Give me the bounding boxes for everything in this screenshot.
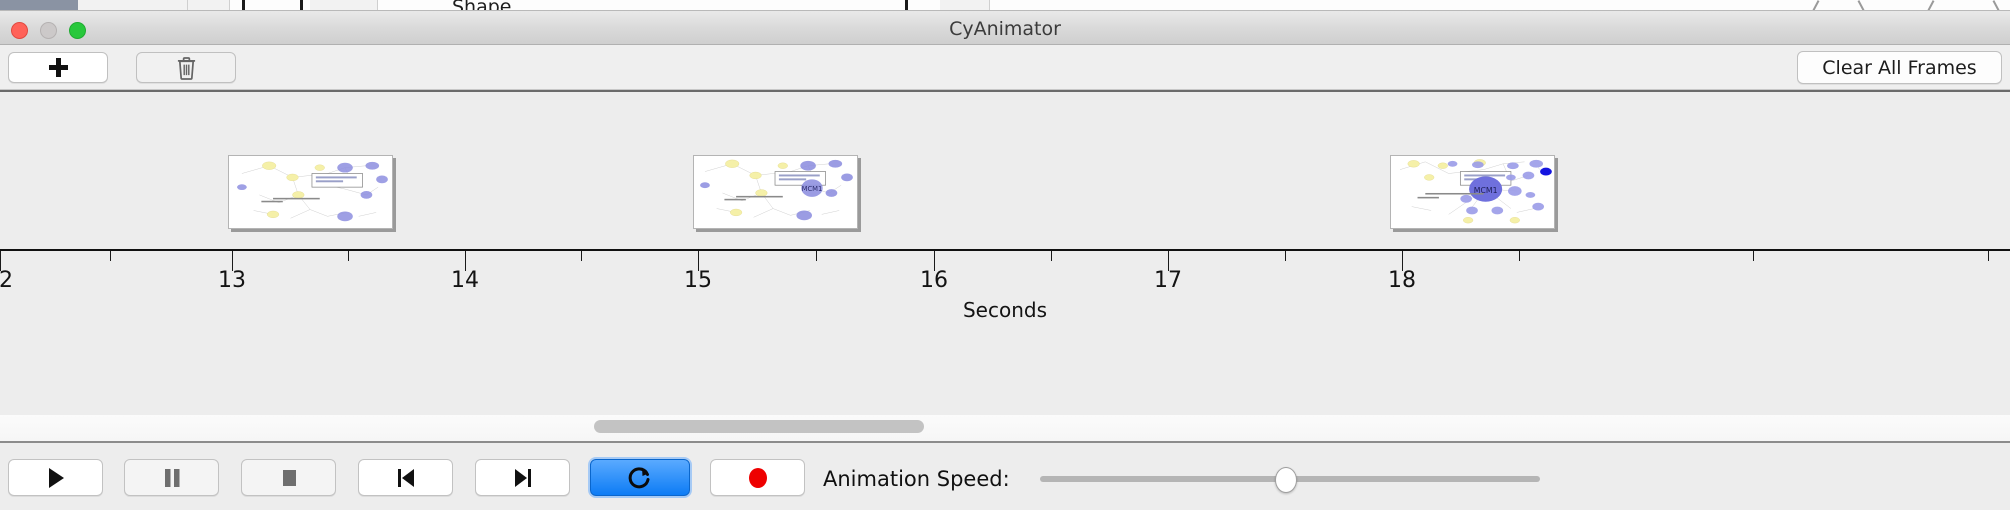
- skip-back-icon: [394, 466, 418, 490]
- bg-decoration: [1993, 0, 2000, 11]
- pause-button[interactable]: [124, 459, 219, 496]
- bg-tab: [78, 0, 188, 11]
- delete-frame-button[interactable]: [136, 52, 236, 83]
- bg-decoration: [1813, 0, 1820, 11]
- stop-button[interactable]: [241, 459, 336, 496]
- axis-tick-minor: [1753, 251, 1754, 261]
- axis-tick-minor: [110, 251, 111, 261]
- background-window-title: Shape: [452, 0, 512, 11]
- axis-tick-minor: [1988, 251, 1989, 261]
- record-button[interactable]: [710, 459, 805, 496]
- skip-back-button[interactable]: [358, 459, 453, 496]
- timeline-panel[interactable]: MCM1: [0, 90, 2010, 415]
- axis-title: Seconds: [0, 298, 2010, 322]
- axis-tick-minor: [581, 251, 582, 261]
- frames-track[interactable]: MCM1: [0, 92, 2010, 249]
- bg-decoration: [1858, 0, 1865, 11]
- timeline-scrollbar[interactable]: [0, 415, 2010, 443]
- cyanimator-window: Shape CyAnimator Clear All Fram: [0, 0, 2010, 510]
- keyframe-thumbnail[interactable]: MCM1: [1390, 155, 1555, 229]
- axis-tick-label: 14: [451, 268, 479, 293]
- loop-button[interactable]: [590, 459, 690, 496]
- animation-speed-slider[interactable]: [1040, 476, 1540, 482]
- record-icon: [746, 466, 770, 490]
- axis-tick-minor: [1519, 251, 1520, 261]
- window-title: CyAnimator: [0, 18, 2010, 40]
- network-thumbnail-graphic: MCM1: [694, 156, 857, 228]
- axis-tick-label: 13: [218, 268, 246, 293]
- toolbar: Clear All Frames: [0, 45, 2010, 90]
- bg-tab: [188, 0, 230, 11]
- trash-icon: [176, 56, 197, 80]
- bg-decoration: [1928, 0, 1935, 11]
- title-bar: CyAnimator: [0, 11, 2010, 45]
- network-node-label: MCM1: [802, 185, 823, 193]
- axis-tick-minor: [1051, 251, 1052, 261]
- clear-all-frames-button[interactable]: Clear All Frames: [1797, 51, 2002, 84]
- axis-tick-minor: [348, 251, 349, 261]
- playback-controls: Animation Speed:: [0, 443, 2010, 510]
- background-window-strip: Shape: [0, 0, 2010, 11]
- animation-speed-label: Animation Speed:: [823, 467, 1010, 491]
- axis-tick-label: 15: [684, 268, 712, 293]
- scrollbar-thumb[interactable]: [594, 420, 924, 433]
- play-button[interactable]: [8, 459, 103, 496]
- plus-icon: [48, 57, 69, 78]
- bg-tab: [310, 0, 378, 11]
- loop-icon: [627, 465, 653, 491]
- axis-tick-label: 2: [0, 268, 13, 293]
- skip-forward-button[interactable]: [475, 459, 570, 496]
- bg-tab: [940, 0, 990, 11]
- axis-tick-minor: [1285, 251, 1286, 261]
- bg-marker-tick: [905, 0, 908, 11]
- timeline-axis: [0, 249, 2010, 251]
- keyframe-thumbnail[interactable]: [228, 155, 393, 229]
- skip-forward-icon: [511, 466, 535, 490]
- stop-icon: [278, 466, 300, 490]
- bg-marker-tick: [300, 0, 303, 11]
- axis-tick-label: 16: [920, 268, 948, 293]
- animation-speed-slider-thumb[interactable]: [1275, 467, 1297, 493]
- bg-marker-tick: [242, 0, 245, 11]
- add-frame-button[interactable]: [8, 52, 108, 83]
- pause-icon: [161, 466, 183, 490]
- axis-tick-label: 18: [1388, 268, 1416, 293]
- axis-tick-label: 17: [1154, 268, 1182, 293]
- play-icon: [45, 466, 67, 490]
- network-thumbnail-graphic: [229, 156, 392, 228]
- keyframe-thumbnail[interactable]: MCM1: [693, 155, 858, 229]
- network-thumbnail-graphic: MCM1: [1391, 156, 1554, 228]
- axis-tick-minor: [816, 251, 817, 261]
- bg-tab-selected: [0, 0, 78, 11]
